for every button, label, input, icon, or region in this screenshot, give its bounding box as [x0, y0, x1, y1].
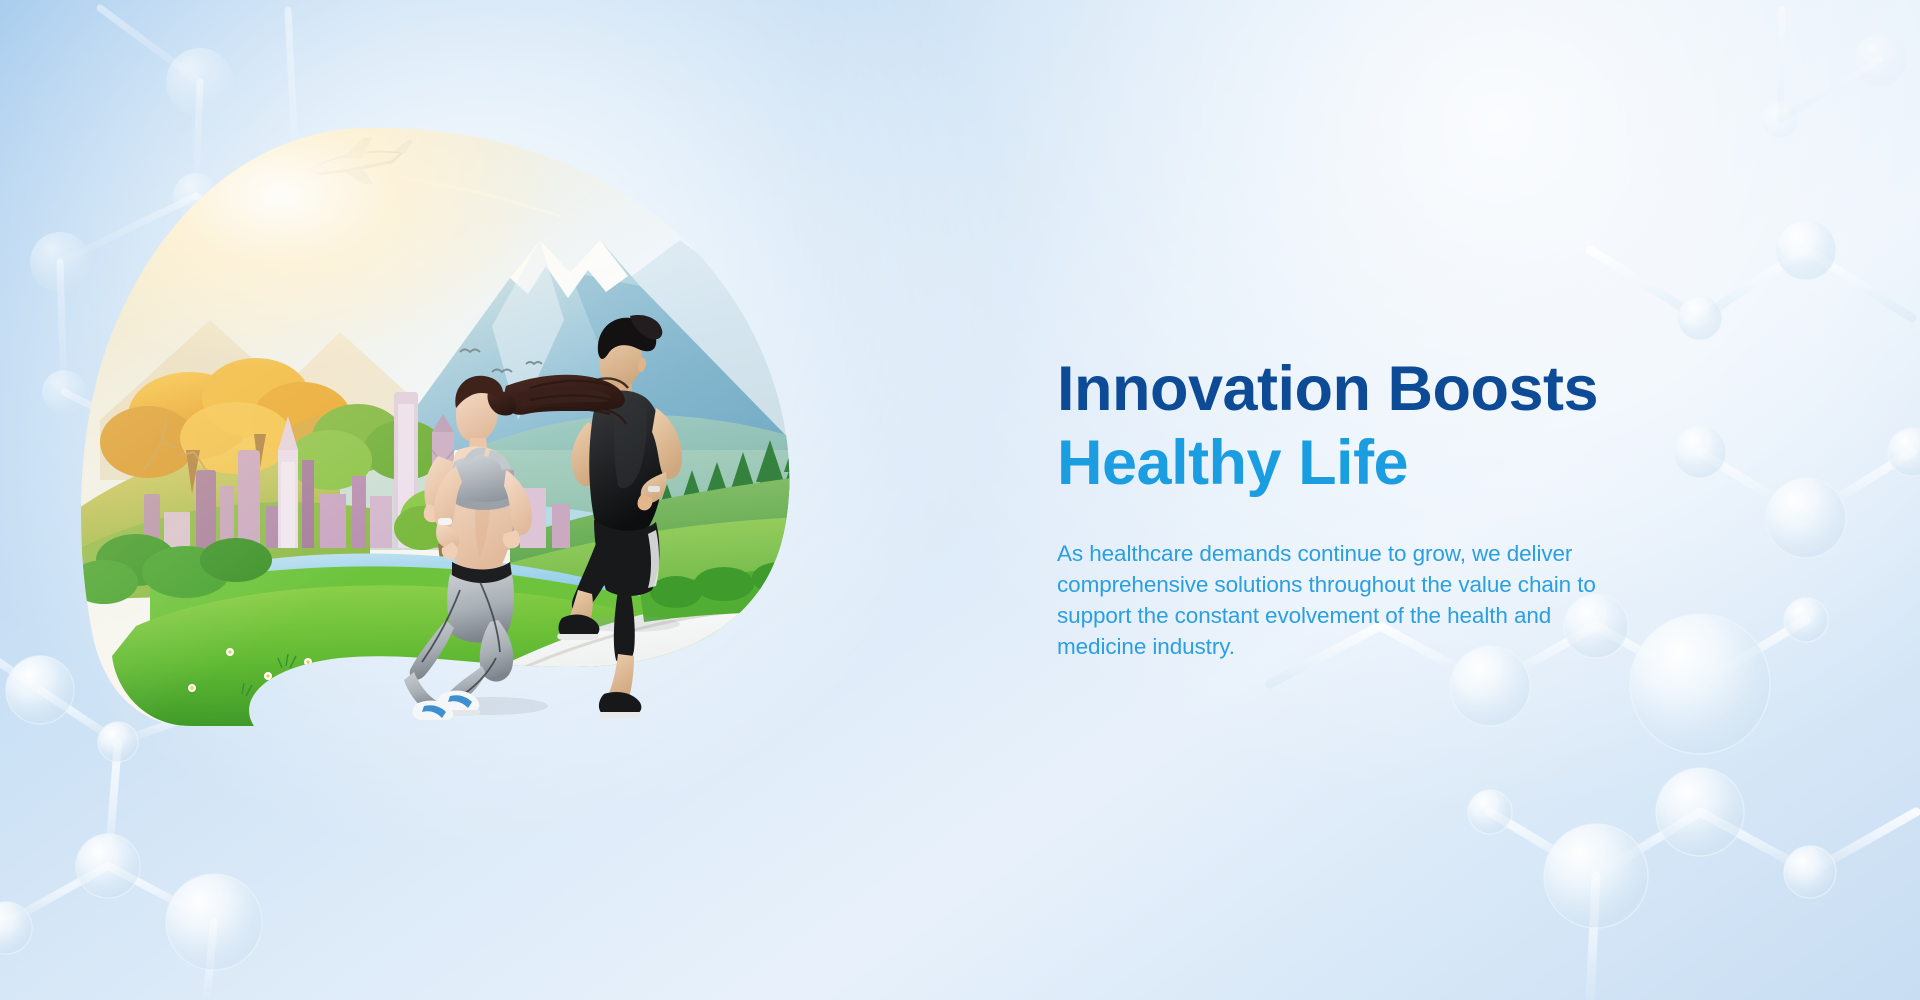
male-leg-front	[614, 588, 635, 664]
male-wristband	[648, 486, 660, 492]
hero-copy: Innovation Boosts Healthy Life As health…	[1057, 352, 1757, 662]
headline-line-2: Healthy Life	[1057, 426, 1757, 500]
female-thigh-rear	[410, 620, 454, 680]
male-shoe-rear-sole	[557, 634, 598, 640]
description-line-4: medicine industry.	[1057, 631, 1717, 662]
description-line-1: As healthcare demands continue to grow, …	[1057, 538, 1717, 569]
headline-line-1: Innovation Boosts	[1057, 352, 1757, 426]
molecule-atoms-right-mid	[1762, 34, 1906, 138]
male-shoe-front-sole	[599, 712, 640, 718]
hero-description: As healthcare demands continue to grow, …	[1057, 538, 1717, 662]
female-wristband	[438, 518, 452, 525]
description-line-2: comprehensive solutions throughout the v…	[1057, 569, 1717, 600]
description-line-3: support the constant evolvement of the h…	[1057, 600, 1717, 631]
runners-group	[330, 290, 750, 720]
hero-banner: Innovation Boosts Healthy Life As health…	[0, 0, 1920, 1000]
molecule-cluster-right-mid	[1780, 10, 1880, 120]
